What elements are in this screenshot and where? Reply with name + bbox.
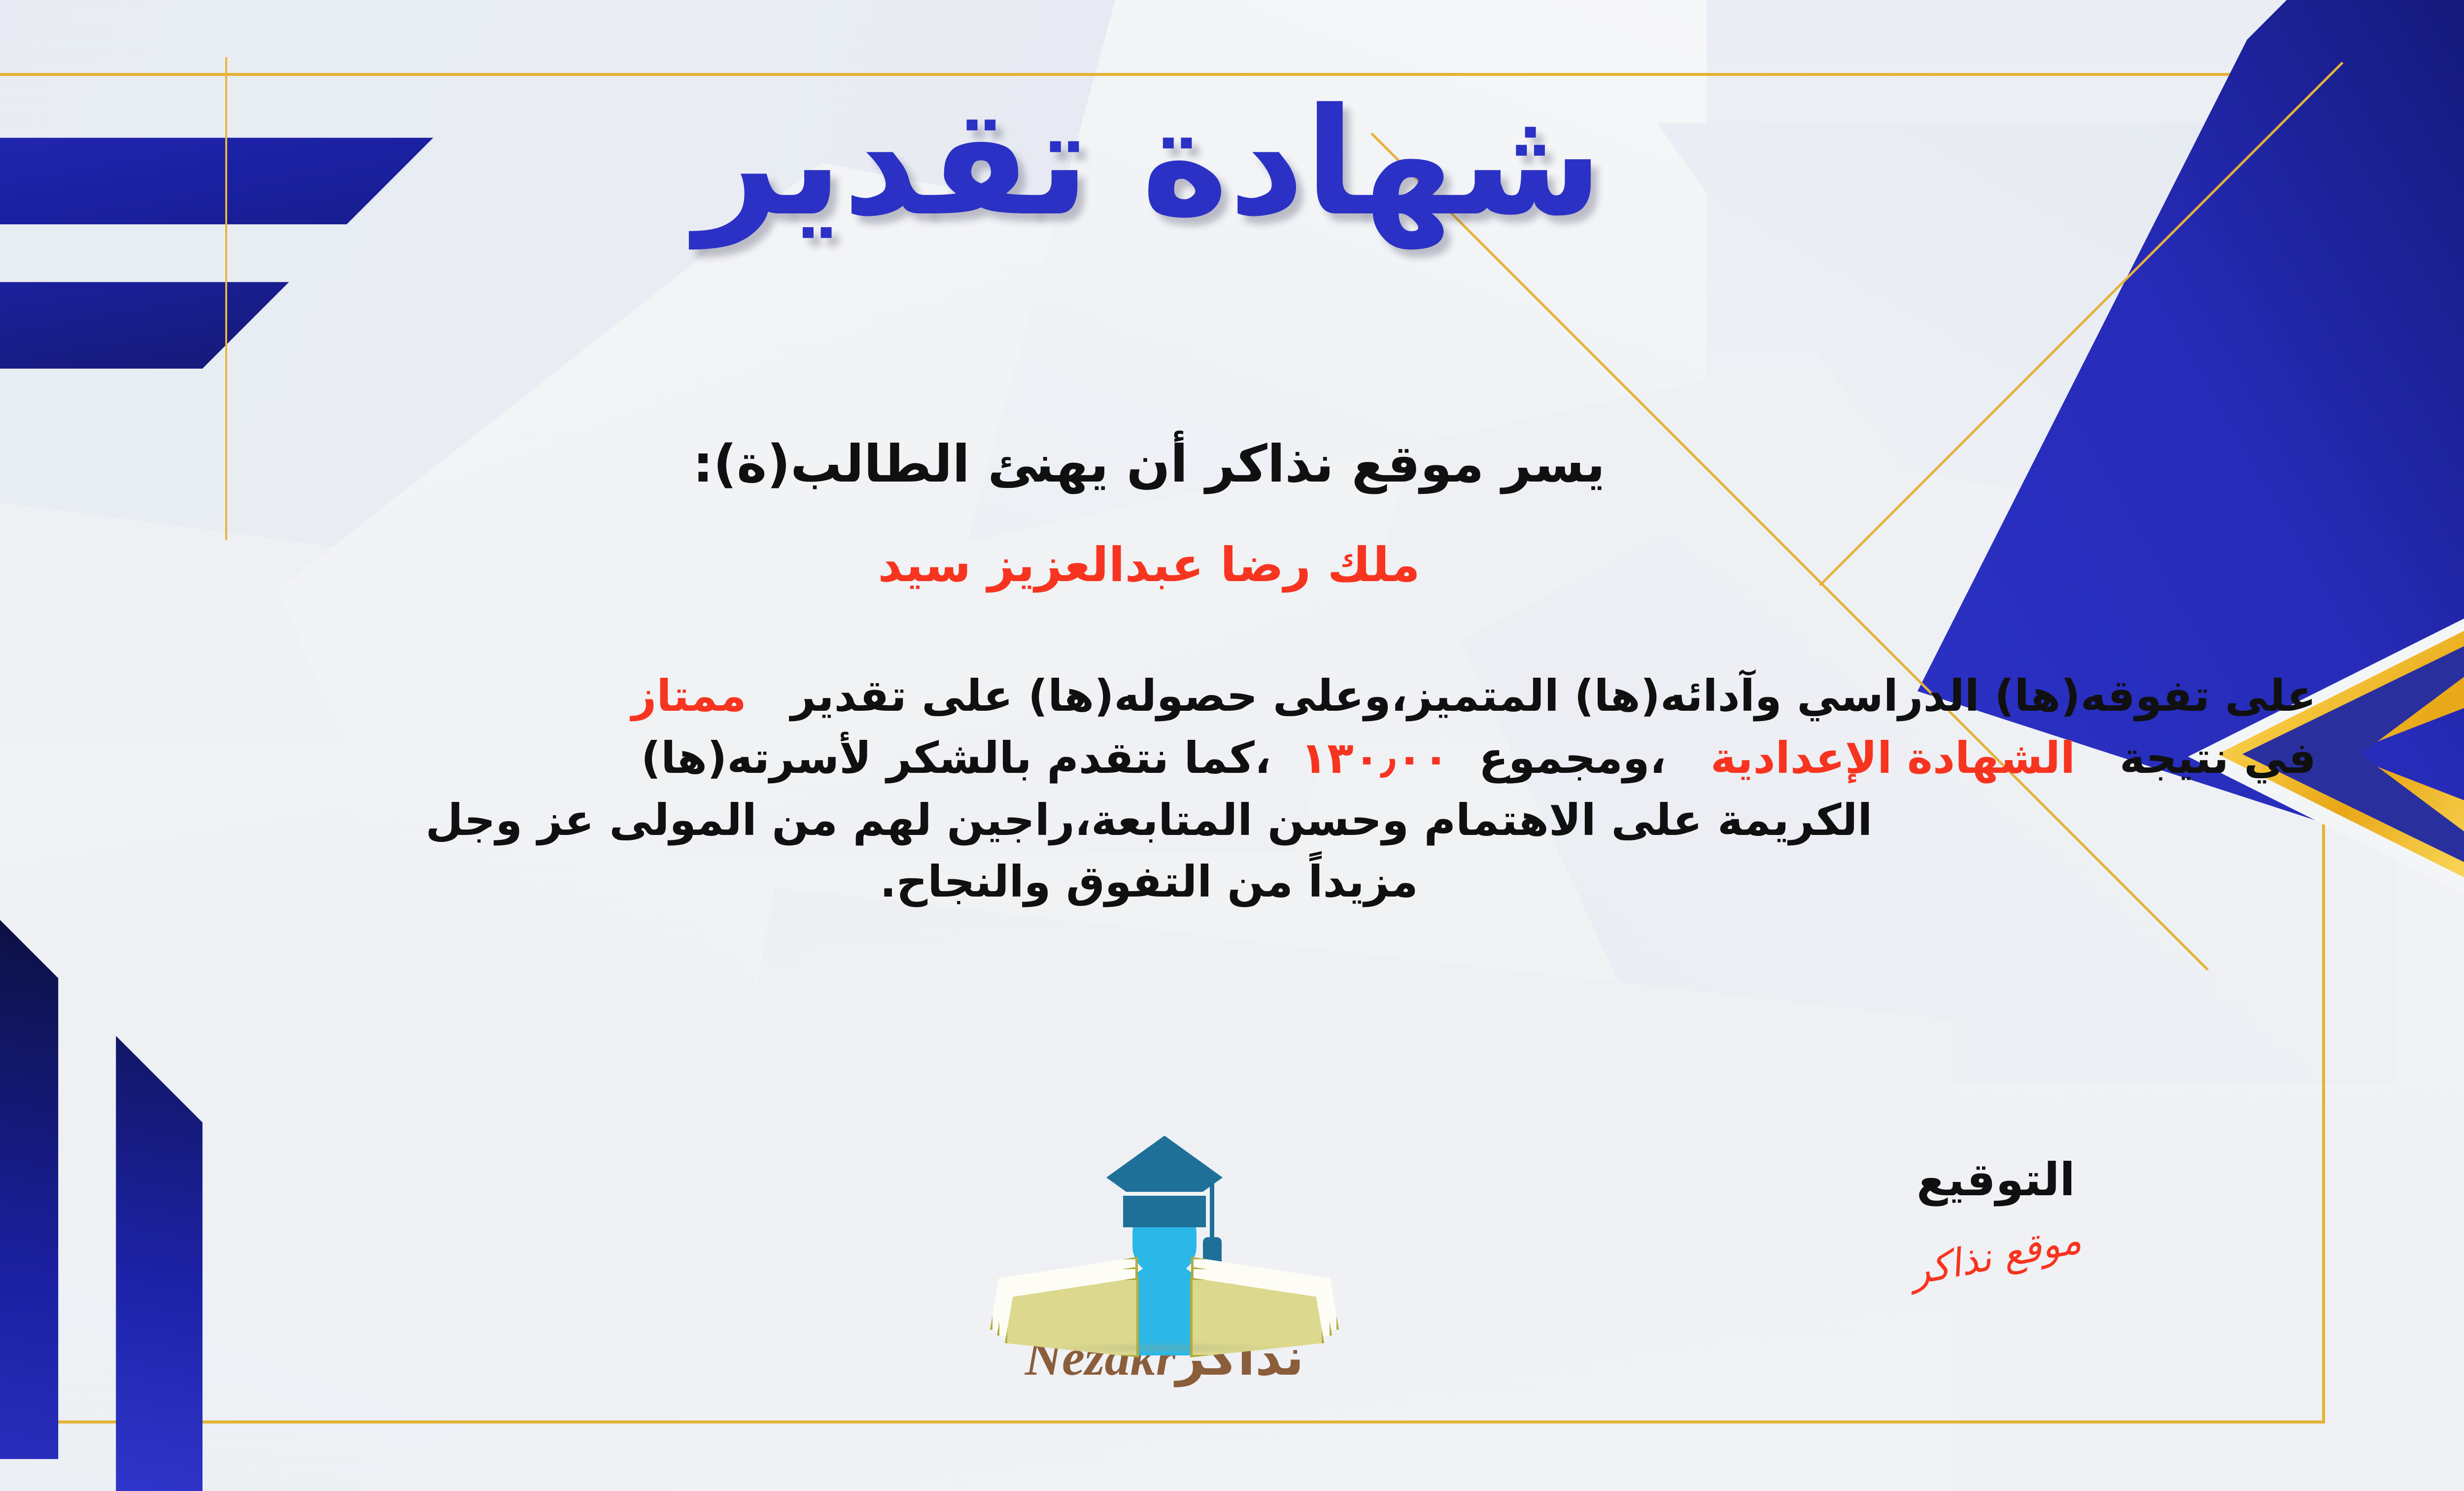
grade-value: ممتاز <box>632 670 747 721</box>
body-line-2-suffix: ،كما نتقدم بالشكر لأسرته(ها) <box>641 732 1271 783</box>
signature-label: التوقيع <box>1863 1153 2129 1206</box>
site-logo: نذاكرNezakr <box>967 1129 1362 1410</box>
body-line-2: في نتيجةالشهادة الإعدادية،ومجموع١٣٠٫٠٠،ك… <box>0 732 2316 784</box>
certificate-canvas: شهادة تقدير يسر موقع نذاكر أن يهنئ الطال… <box>0 0 2464 1491</box>
body-line-4: مزيداً من التفوق والنجاح. <box>0 856 2316 907</box>
logo-graphic <box>967 1129 1362 1326</box>
open-book-right-pages <box>1191 1252 1339 1346</box>
body-line-1: على تفوقه(ها) الدراسي وآدائه(ها) المتميز… <box>0 670 2316 722</box>
total-score: ١٣٠٫٠٠ <box>1300 732 1449 783</box>
exam-name: الشهادة الإعدادية <box>1711 732 2075 783</box>
body-line-3: الكريمة على الاهتمام وحسن المتابعة،راجين… <box>0 795 2316 846</box>
book-shadow <box>1031 1342 1298 1354</box>
student-name: ملك رضا عبدالعزيز سيد <box>0 537 2464 592</box>
certificate-body: على تفوقه(ها) الدراسي وآدائه(ها) المتميز… <box>0 670 2316 918</box>
graduation-cap-band <box>1123 1192 1206 1227</box>
signature-mark: موقع نذاكر <box>1907 1217 2085 1294</box>
body-line-2-prefix: في نتيجة <box>2120 732 2316 783</box>
certificate-title: شهادة تقدير <box>0 89 2464 237</box>
signature-block: التوقيع موقع نذاكر <box>1863 1153 2129 1278</box>
body-line-2-mid: ،ومجموع <box>1479 732 1666 783</box>
graduation-cap-tassel <box>1210 1183 1214 1241</box>
greeting-text: يسر موقع نذاكر أن يهنئ الطالب(ة): <box>0 434 2464 494</box>
body-line-1-text: على تفوقه(ها) الدراسي وآدائه(ها) المتميز… <box>791 670 2316 721</box>
open-book-left-pages <box>990 1252 1138 1346</box>
